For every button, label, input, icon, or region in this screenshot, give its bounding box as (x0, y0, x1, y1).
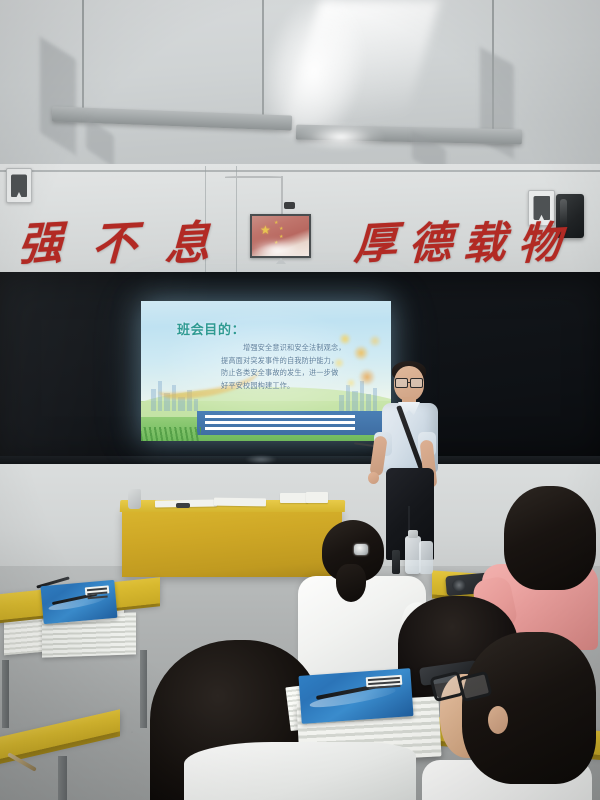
calligraphy-char: 厚 (353, 208, 401, 273)
teacher-podium (122, 509, 342, 577)
light-suspension-rod (82, 0, 84, 116)
student-shoulder-foreground (184, 742, 416, 800)
book-label (85, 585, 109, 595)
projected-slide: 班会目的： 增强安全意识和安全法制观念， 提高面对突发事件的自我防护能力， 防止… (141, 301, 391, 441)
light-suspension-rod (262, 0, 264, 120)
student-glasses-foreground (462, 632, 600, 800)
blue-textbook (298, 668, 413, 724)
slide-body-line: 增强安全意识和安全法制观念， (221, 342, 373, 354)
classroom-photo: ★ ★ ★ ★ ★ 强不息 厚德载物 (0, 0, 600, 800)
wall-trim-line (0, 170, 600, 172)
glasses-icon (436, 674, 488, 696)
flag-cable (225, 176, 283, 178)
student-ear (488, 706, 508, 734)
flag-star-icon: ★ (279, 227, 283, 232)
hair-clip (354, 544, 368, 555)
wall-speaker-icon (6, 168, 32, 203)
wall-calligraphy-left: 强不息 (18, 207, 239, 272)
calligraphy-char: 物 (517, 208, 565, 273)
calligraphy-char: 载 (462, 208, 510, 273)
desk-leg (58, 756, 67, 800)
podium-object (176, 503, 190, 508)
ceiling (0, 0, 600, 172)
glasses-icon (395, 378, 423, 386)
light-suspension-rod (492, 0, 494, 132)
calligraphy-char: 强 (17, 206, 67, 274)
student-hair (462, 632, 596, 784)
book-label (366, 675, 402, 688)
student-hair (504, 486, 596, 590)
flag-mount (276, 258, 286, 264)
light-glare (296, 120, 386, 154)
ceiling-shadow (86, 117, 114, 168)
flag-star-icon: ★ (260, 224, 271, 236)
wall-sensor-icon (284, 202, 295, 209)
slide-title: 班会目的： (177, 319, 245, 338)
wall-calligraphy-right: 厚德载物 (354, 209, 572, 271)
slide-body-line: 提高面对突发事件的自我防护能力， (221, 355, 373, 367)
podium-paper (306, 492, 328, 503)
flag-star-icon: ★ (274, 221, 278, 226)
desk-leg (2, 660, 9, 728)
teacher-hand (368, 472, 379, 484)
chinese-flag: ★ ★ ★ ★ ★ (250, 214, 311, 258)
flag-cable (281, 176, 283, 214)
ponytail (336, 564, 366, 602)
calligraphy-char: 息 (164, 206, 214, 274)
blue-textbook (40, 580, 117, 624)
podium-paper (214, 498, 266, 507)
slide-body-line: 防止各类安全事故的发生，进一步做 (221, 367, 373, 379)
podium-paper (280, 493, 308, 503)
desk-leg (140, 650, 147, 728)
ceiling-shadow (40, 37, 76, 155)
calligraphy-char: 德 (408, 208, 456, 273)
projector-logo (245, 455, 277, 464)
podium-cup (128, 489, 141, 509)
calligraphy-char: 不 (91, 206, 141, 274)
slide-body-line: 好平安校园构建工作。 (221, 380, 373, 392)
slide-body-text: 增强安全意识和安全法制观念， 提高面对突发事件的自我防护能力， 防止各类安全事故… (221, 342, 373, 392)
